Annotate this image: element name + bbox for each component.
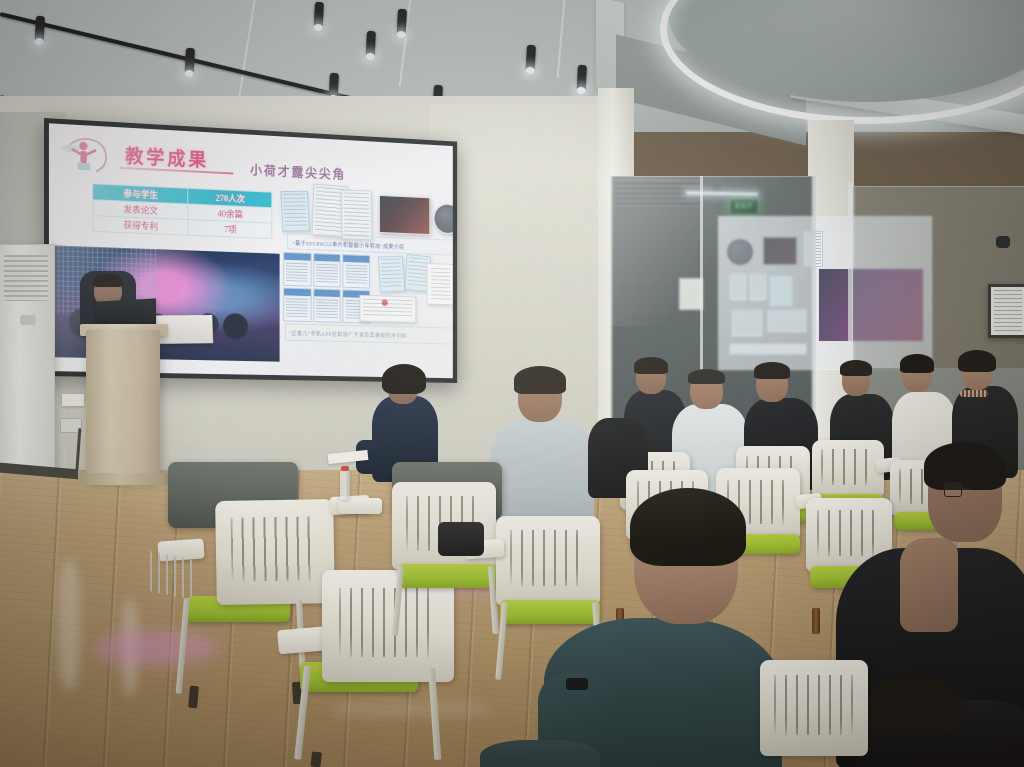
floor-reflection (330, 700, 490, 718)
chair-foot (310, 751, 322, 767)
spotlight (314, 2, 324, 28)
spotlight (526, 45, 536, 71)
slide-poster-thumb (280, 191, 309, 232)
slide-subtitle: 小荷才露尖尖角 (250, 160, 346, 183)
spotlight (35, 16, 45, 42)
chair-back-slots (817, 510, 881, 556)
water-bottle (340, 470, 350, 500)
podium (86, 330, 160, 480)
audience-hair (754, 362, 790, 379)
thermos-bottle (812, 608, 820, 634)
audience-hair (958, 350, 996, 372)
slide-patent-lines (431, 268, 450, 301)
audience-hair (900, 354, 934, 373)
wall-label (62, 394, 84, 406)
audience-collar-pattern (960, 390, 988, 397)
app-screen (283, 288, 311, 322)
chair-back-slots (821, 449, 874, 485)
chair-back-slots (510, 530, 587, 586)
bottle-cap (341, 466, 349, 471)
audience-hair (688, 369, 725, 384)
floor-reflection (58, 560, 80, 690)
slide-circular-photo (434, 203, 453, 234)
app-screen (283, 252, 311, 287)
ceiling-panel-left (0, 0, 700, 106)
chair-back (215, 499, 335, 605)
chair-back-slots (339, 588, 437, 657)
presenter-hair (93, 274, 123, 287)
foreground-audience-arm (900, 538, 958, 632)
spotlight (185, 48, 195, 74)
table-cell-label: 获得专利 (93, 216, 189, 236)
slide-paper-thumb (341, 190, 372, 240)
partial-audience-shoulder (480, 740, 600, 767)
slide-patent-certificate (427, 263, 453, 305)
slide-paper-lines (344, 193, 370, 237)
table-cell-value: 7项 (188, 220, 272, 239)
glass-highlight (610, 176, 814, 326)
chair-back (812, 440, 884, 498)
podium-base (78, 473, 170, 485)
foreground-audience-hair (630, 488, 746, 566)
foreground-audience-hair (924, 442, 1006, 490)
spotlight (577, 65, 587, 91)
floor-reflection-pink (96, 630, 216, 666)
wristwatch (566, 678, 588, 690)
chair-back (496, 516, 600, 606)
audience-hair (634, 357, 668, 374)
child-figure-logo (61, 132, 116, 179)
audience-hair (840, 360, 872, 376)
slide-red-seal (382, 299, 388, 306)
app-screen (343, 254, 370, 288)
slide-certificate-lines (381, 259, 402, 290)
spotlight (366, 31, 376, 57)
slide-certificate-lines (408, 257, 429, 289)
chair-back-slots (774, 675, 854, 735)
bag-on-chair (438, 522, 484, 556)
corner-audience-hair (866, 676, 962, 734)
ac-vent-grille (4, 255, 48, 301)
app-screen (313, 289, 341, 323)
wall-camera-icon (996, 236, 1010, 248)
side-table (338, 498, 382, 514)
chair-foot (188, 686, 199, 709)
slide-caption-bottom-box (285, 323, 453, 344)
slide-results-table: 参与学生 270人次 发表论文 40余篇 获得专利 7项 (92, 183, 272, 239)
audience-hair (382, 364, 426, 394)
chair-seat (500, 600, 600, 624)
app-screen (313, 253, 341, 287)
framed-picture (988, 284, 1024, 338)
chair-back-slots (231, 516, 319, 582)
conference-room-photo: EXIT (0, 0, 1024, 767)
chair-back (760, 660, 868, 756)
eyeglasses-bridge (958, 488, 970, 490)
audience-hair (514, 366, 566, 394)
slide-certificate (378, 256, 405, 293)
spotlight (397, 9, 407, 35)
slide-award-certificate (359, 295, 416, 323)
slide-video-still (379, 195, 430, 235)
ac-control-panel (20, 315, 36, 325)
framed-picture-lines (994, 290, 1022, 332)
chair-seat (398, 564, 498, 588)
slide-app-screens (283, 252, 370, 324)
slide-poster-lines (283, 194, 307, 229)
